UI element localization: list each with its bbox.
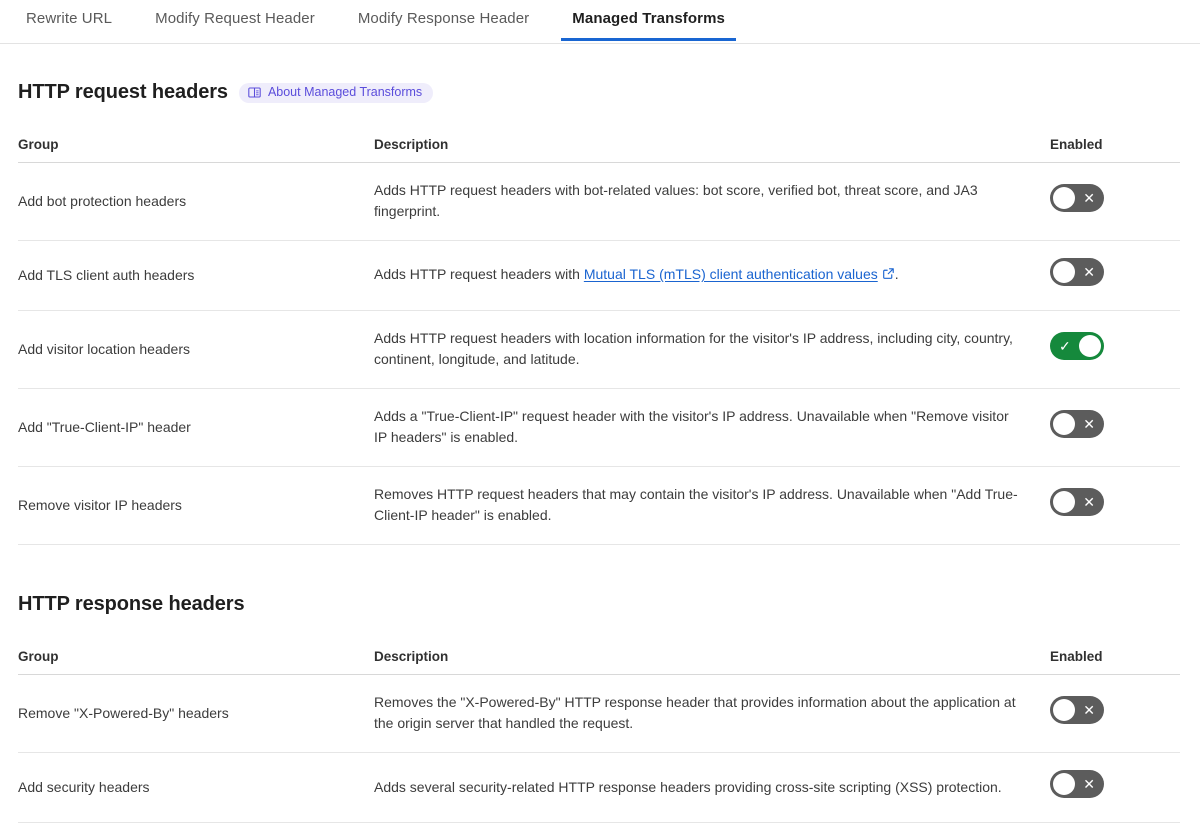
- cross-icon: ✕: [1083, 184, 1095, 212]
- cross-icon: ✕: [1083, 410, 1095, 438]
- cross-icon: ✕: [1083, 696, 1095, 724]
- cross-icon: ✕: [1083, 488, 1095, 516]
- section-http-request-headers: HTTP request headers About Managed Trans…: [0, 81, 1200, 545]
- row-enabled-cell: ✕: [1050, 241, 1180, 311]
- row-group-label: Add security headers: [18, 753, 374, 823]
- toggle-add-security-headers[interactable]: ✕: [1050, 770, 1104, 798]
- table-row: Add visitor location headers Adds HTTP r…: [18, 311, 1180, 389]
- cross-icon: ✕: [1083, 770, 1095, 798]
- column-header-enabled: Enabled: [1050, 640, 1180, 675]
- row-description-text: Adds HTTP request headers with location …: [374, 328, 1020, 370]
- check-icon: ✓: [1059, 332, 1071, 360]
- tab-bar: Rewrite URL Modify Request Header Modify…: [0, 0, 1200, 44]
- table-header-row: Group Description Enabled: [18, 640, 1180, 675]
- row-enabled-cell: ✕: [1050, 389, 1180, 467]
- toggle-knob: [1053, 187, 1075, 209]
- page-title-request-headers: HTTP request headers: [18, 81, 228, 104]
- column-header-description: Description: [374, 640, 1050, 675]
- row-enabled-cell: ✕: [1050, 467, 1180, 545]
- column-header-group: Group: [18, 128, 374, 163]
- table-row: Add "True-Client-IP" header Adds a "True…: [18, 389, 1180, 467]
- row-description-text: Adds HTTP request headers with Mutual TL…: [374, 264, 1020, 286]
- book-icon: [248, 86, 261, 99]
- tab-modify-response-header[interactable]: Modify Response Header: [358, 0, 529, 40]
- row-description-text: Removes HTTP request headers that may co…: [374, 484, 1020, 526]
- response-headers-heading-row: HTTP response headers: [18, 593, 1180, 616]
- about-badge-label: About Managed Transforms: [268, 86, 422, 99]
- cross-icon: ✕: [1083, 258, 1095, 286]
- row-group-label: Remove visitor IP headers: [18, 467, 374, 545]
- toggle-add-true-client-ip-header[interactable]: ✕: [1050, 410, 1104, 438]
- row-description: Removes HTTP request headers that may co…: [374, 467, 1050, 545]
- table-row: Remove "X-Powered-By" headers Removes th…: [18, 675, 1180, 753]
- toggle-add-visitor-location-headers[interactable]: ✓: [1050, 332, 1104, 360]
- row-group-label: Add bot protection headers: [18, 163, 374, 241]
- mutual-tls-link[interactable]: Mutual TLS (mTLS) client authentication …: [584, 266, 878, 282]
- row-description-text: Adds a "True-Client-IP" request header w…: [374, 406, 1020, 448]
- row-description-text: Adds several security-related HTTP respo…: [374, 777, 1020, 798]
- toggle-knob: [1053, 261, 1075, 283]
- row-group-label: Add "True-Client-IP" header: [18, 389, 374, 467]
- table-header-row: Group Description Enabled: [18, 128, 1180, 163]
- toggle-remove-visitor-ip-headers[interactable]: ✕: [1050, 488, 1104, 516]
- row-description: Adds HTTP request headers with location …: [374, 311, 1050, 389]
- tab-rewrite-url[interactable]: Rewrite URL: [26, 0, 112, 40]
- table-row: Add TLS client auth headers Adds HTTP re…: [18, 241, 1180, 311]
- row-description-text: Removes the "X-Powered-By" HTTP response…: [374, 692, 1020, 734]
- row-description: Removes the "X-Powered-By" HTTP response…: [374, 675, 1050, 753]
- row-description: Adds HTTP request headers with bot-relat…: [374, 163, 1050, 241]
- column-header-description: Description: [374, 128, 1050, 163]
- toggle-knob: [1053, 413, 1075, 435]
- description-suffix: .: [895, 266, 899, 282]
- page-title-response-headers: HTTP response headers: [18, 593, 245, 616]
- table-row: Remove visitor IP headers Removes HTTP r…: [18, 467, 1180, 545]
- external-link-icon[interactable]: [882, 265, 895, 286]
- row-enabled-cell: ✕: [1050, 675, 1180, 753]
- toggle-knob: [1053, 491, 1075, 513]
- request-headers-heading-row: HTTP request headers About Managed Trans…: [18, 81, 1180, 104]
- row-description: Adds HTTP request headers with Mutual TL…: [374, 241, 1050, 311]
- row-enabled-cell: ✕: [1050, 753, 1180, 823]
- toggle-add-bot-protection-headers[interactable]: ✕: [1050, 184, 1104, 212]
- toggle-knob: [1053, 773, 1075, 795]
- description-prefix: Adds HTTP request headers with: [374, 266, 584, 282]
- column-header-group: Group: [18, 640, 374, 675]
- about-managed-transforms-badge[interactable]: About Managed Transforms: [239, 83, 433, 103]
- row-enabled-cell: ✓: [1050, 311, 1180, 389]
- column-header-enabled: Enabled: [1050, 128, 1180, 163]
- table-row: Add bot protection headers Adds HTTP req…: [18, 163, 1180, 241]
- section-http-response-headers: HTTP response headers Group Description …: [0, 593, 1200, 823]
- row-enabled-cell: ✕: [1050, 163, 1180, 241]
- response-headers-table: Group Description Enabled Remove "X-Powe…: [18, 640, 1180, 823]
- row-group-label: Add visitor location headers: [18, 311, 374, 389]
- row-group-label: Add TLS client auth headers: [18, 241, 374, 311]
- tab-modify-request-header[interactable]: Modify Request Header: [155, 0, 315, 40]
- row-description-text: Adds HTTP request headers with bot-relat…: [374, 180, 1020, 222]
- toggle-add-tls-client-auth-headers[interactable]: ✕: [1050, 258, 1104, 286]
- toggle-knob: [1079, 335, 1101, 357]
- toggle-knob: [1053, 699, 1075, 721]
- table-row: Add security headers Adds several securi…: [18, 753, 1180, 823]
- row-description: Adds a "True-Client-IP" request header w…: [374, 389, 1050, 467]
- request-headers-table: Group Description Enabled Add bot protec…: [18, 128, 1180, 545]
- tab-managed-transforms[interactable]: Managed Transforms: [572, 0, 725, 40]
- row-description: Adds several security-related HTTP respo…: [374, 753, 1050, 823]
- row-group-label: Remove "X-Powered-By" headers: [18, 675, 374, 753]
- toggle-remove-x-powered-by-headers[interactable]: ✕: [1050, 696, 1104, 724]
